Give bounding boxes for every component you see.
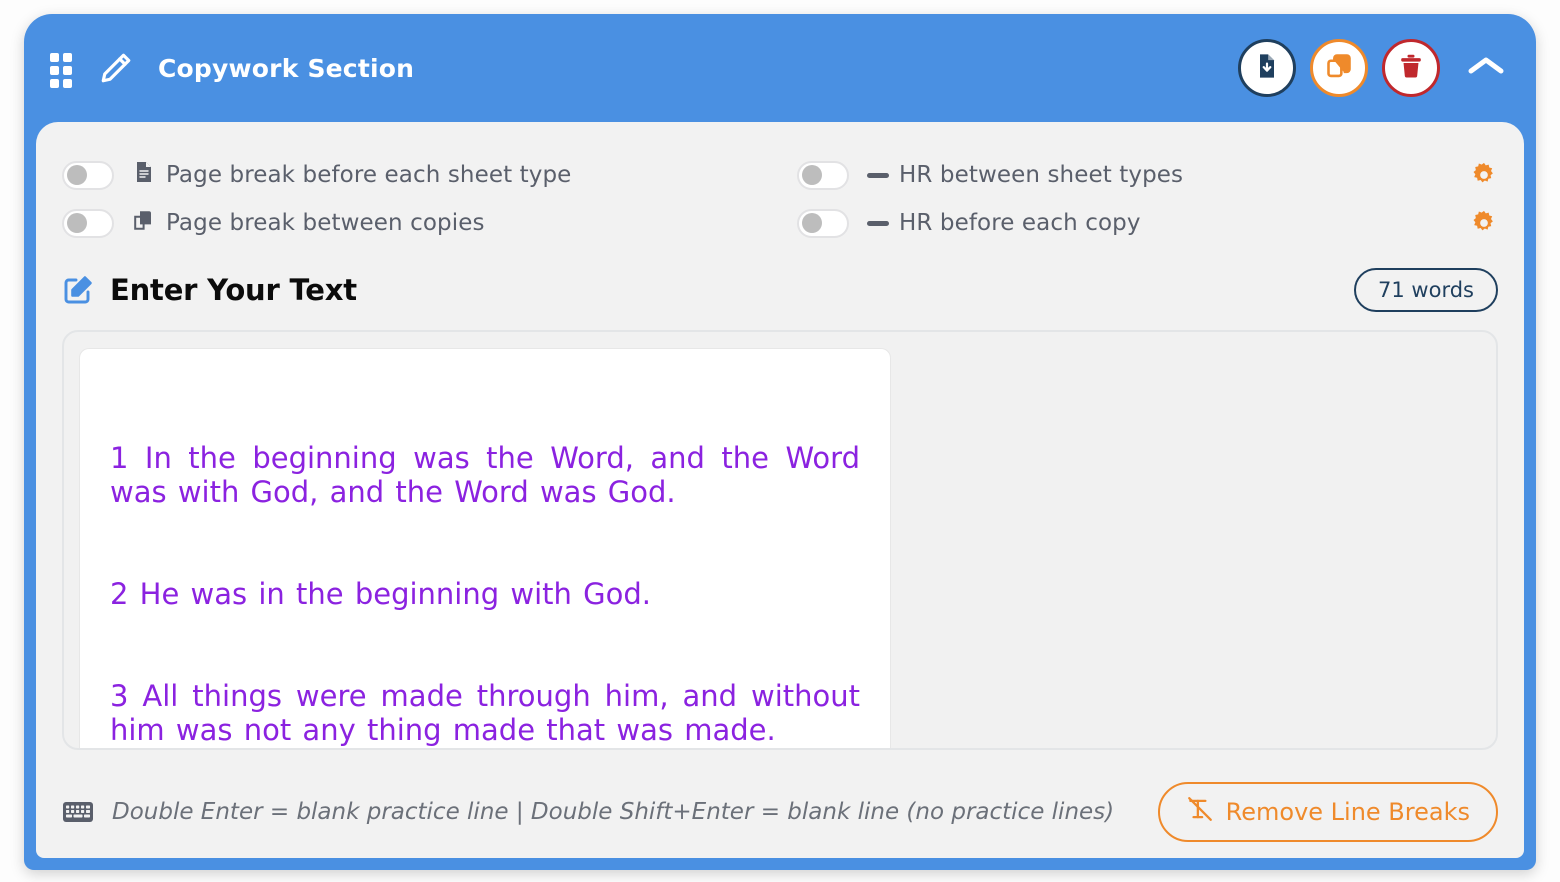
remove-line-breaks-button[interactable]: Remove Line Breaks <box>1158 782 1498 842</box>
drag-grip-icon[interactable] <box>50 53 76 83</box>
delete-button[interactable] <box>1382 39 1440 97</box>
toggle-page-break-sheet-type[interactable] <box>62 161 114 190</box>
editor-header: Enter Your Text 71 words <box>62 268 1498 312</box>
pen-square-icon <box>62 274 94 306</box>
duplicate-button[interactable] <box>1310 39 1368 97</box>
text-slash-icon <box>1186 796 1214 828</box>
gear-icon-hr-between-sheet-types[interactable] <box>1470 161 1498 189</box>
download-button[interactable] <box>1238 39 1296 97</box>
copy-icon <box>132 208 156 238</box>
copywork-section-card: Copywork Section <box>24 14 1536 870</box>
copywork-line: 2 He was in the beginning with God. <box>110 577 860 611</box>
editor-heading: Enter Your Text <box>110 273 357 307</box>
copywork-textarea[interactable]: 1 In the beginning was the Word, and the… <box>79 348 891 748</box>
editor-hint: Double Enter = blank practice line | Dou… <box>112 799 1114 825</box>
keyboard-icon <box>62 799 94 825</box>
remove-line-breaks-label: Remove Line Breaks <box>1226 798 1470 826</box>
page-title: Copywork Section <box>158 54 414 83</box>
file-lines-icon <box>132 160 156 190</box>
app-root: Copywork Section <box>0 0 1560 882</box>
copywork-line: 3 All things were made through him, and … <box>110 679 860 747</box>
option-page-break-between-copies: Page break between copies <box>62 208 797 238</box>
option-label-wrap: HR between sheet types <box>867 162 1183 188</box>
chevron-up-icon <box>1466 53 1506 84</box>
card-header: Copywork Section <box>24 14 1536 122</box>
option-label-wrap: Page break before each sheet type <box>132 160 571 190</box>
horizontal-rule-icon <box>867 173 889 178</box>
option-hr-between-sheet-types: HR between sheet types <box>797 160 1498 190</box>
header-actions <box>1238 39 1514 97</box>
horizontal-rule-icon <box>867 221 889 226</box>
gear-icon-hr-before-each-copy[interactable] <box>1470 209 1498 237</box>
copywork-text: 1 In the beginning was the Word, and the… <box>110 373 860 748</box>
option-page-break-sheet-type: Page break before each sheet type <box>62 160 797 190</box>
editor-footer: Double Enter = blank practice line | Dou… <box>62 782 1498 842</box>
option-label: Page break before each sheet type <box>166 162 571 188</box>
copywork-line: 1 In the beginning was the Word, and the… <box>110 441 860 509</box>
option-hr-before-each-copy: HR before each copy <box>797 208 1498 238</box>
word-count-badge: 71 words <box>1354 268 1498 312</box>
card-body: Page break before each sheet type HR bet… <box>36 122 1524 858</box>
pencil-icon[interactable] <box>96 48 136 88</box>
editor-container: 1 In the beginning was the Word, and the… <box>62 330 1498 750</box>
toggle-hr-between-sheet-types[interactable] <box>797 161 849 190</box>
option-label-wrap: HR before each copy <box>867 210 1141 236</box>
option-label: HR between sheet types <box>899 162 1183 188</box>
trash-icon <box>1397 52 1425 85</box>
collapse-button[interactable] <box>1458 40 1514 96</box>
file-download-icon <box>1253 52 1281 85</box>
option-label: Page break between copies <box>166 210 485 236</box>
copy-icon <box>1325 52 1353 85</box>
options-grid: Page break before each sheet type HR bet… <box>62 146 1498 238</box>
option-label-wrap: Page break between copies <box>132 208 485 238</box>
toggle-page-break-between-copies[interactable] <box>62 209 114 238</box>
option-label: HR before each copy <box>899 210 1141 236</box>
toggle-hr-before-each-copy[interactable] <box>797 209 849 238</box>
